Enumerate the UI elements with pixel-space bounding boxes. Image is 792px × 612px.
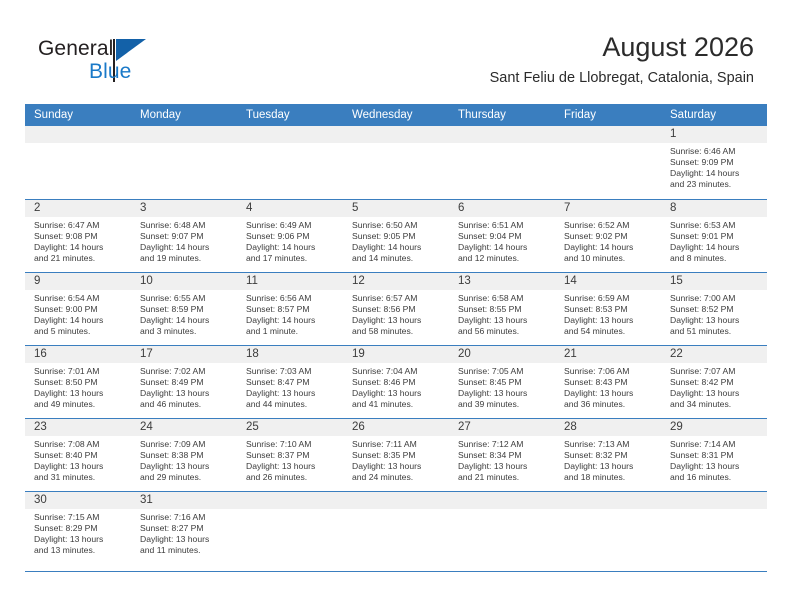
day-number: 9 [25, 273, 131, 290]
sunrise-text: Sunrise: 7:04 AM [352, 366, 443, 377]
sunset-text: Sunset: 8:43 PM [564, 377, 655, 388]
calendar-day-cell[interactable]: 9Sunrise: 6:54 AMSunset: 9:00 PMDaylight… [25, 272, 131, 345]
day-details: Sunrise: 7:10 AMSunset: 8:37 PMDaylight:… [237, 436, 343, 483]
daylight-text-line2: and 18 minutes. [564, 472, 655, 483]
sunset-text: Sunset: 8:47 PM [246, 377, 337, 388]
calendar-body: 1Sunrise: 6:46 AMSunset: 9:09 PMDaylight… [25, 126, 767, 571]
sunrise-text: Sunrise: 7:00 AM [670, 293, 761, 304]
sunset-text: Sunset: 9:08 PM [34, 231, 125, 242]
calendar-day-cell[interactable]: 16Sunrise: 7:01 AMSunset: 8:50 PMDayligh… [25, 345, 131, 418]
sunset-text: Sunset: 9:07 PM [140, 231, 231, 242]
calendar-cell-empty [237, 491, 343, 571]
day-details: Sunrise: 7:01 AMSunset: 8:50 PMDaylight:… [25, 363, 131, 410]
weekday-header-tuesday: Tuesday [237, 104, 343, 126]
day-number-band [131, 126, 237, 143]
sunrise-text: Sunrise: 7:16 AM [140, 512, 231, 523]
daylight-text-line1: Daylight: 13 hours [140, 388, 231, 399]
calendar-day-cell[interactable]: 5Sunrise: 6:50 AMSunset: 9:05 PMDaylight… [343, 199, 449, 272]
daylight-text-line2: and 3 minutes. [140, 326, 231, 337]
day-number: 23 [25, 419, 131, 436]
day-number-band [555, 492, 661, 509]
day-number: 14 [555, 273, 661, 290]
daylight-text-line2: and 8 minutes. [670, 253, 761, 264]
calendar-cell-empty [555, 491, 661, 571]
sunset-text: Sunset: 9:02 PM [564, 231, 655, 242]
daylight-text-line1: Daylight: 13 hours [34, 388, 125, 399]
daylight-text-line1: Daylight: 13 hours [140, 534, 231, 545]
sunset-text: Sunset: 8:55 PM [458, 304, 549, 315]
sunrise-sunset-calendar-table: SundayMondayTuesdayWednesdayThursdayFrid… [25, 104, 767, 572]
sunset-text: Sunset: 8:53 PM [564, 304, 655, 315]
day-number: 5 [343, 200, 449, 217]
daylight-text-line2: and 17 minutes. [246, 253, 337, 264]
day-details: Sunrise: 7:13 AMSunset: 8:32 PMDaylight:… [555, 436, 661, 483]
sunrise-text: Sunrise: 7:14 AM [670, 439, 761, 450]
calendar-day-cell[interactable]: 21Sunrise: 7:06 AMSunset: 8:43 PMDayligh… [555, 345, 661, 418]
day-details: Sunrise: 7:00 AMSunset: 8:52 PMDaylight:… [661, 290, 767, 337]
sunset-text: Sunset: 8:49 PM [140, 377, 231, 388]
calendar-cell-empty [237, 126, 343, 199]
daylight-text-line2: and 44 minutes. [246, 399, 337, 410]
daylight-text-line2: and 19 minutes. [140, 253, 231, 264]
general-blue-logo[interactable]: General Blue [38, 38, 218, 90]
calendar-day-cell[interactable]: 22Sunrise: 7:07 AMSunset: 8:42 PMDayligh… [661, 345, 767, 418]
sunrise-text: Sunrise: 6:48 AM [140, 220, 231, 231]
daylight-text-line1: Daylight: 13 hours [670, 461, 761, 472]
day-details: Sunrise: 6:49 AMSunset: 9:06 PMDaylight:… [237, 217, 343, 264]
daylight-text-line2: and 51 minutes. [670, 326, 761, 337]
day-details: Sunrise: 7:05 AMSunset: 8:45 PMDaylight:… [449, 363, 555, 410]
calendar-week-row: 2Sunrise: 6:47 AMSunset: 9:08 PMDaylight… [25, 199, 767, 272]
calendar-day-cell[interactable]: 13Sunrise: 6:58 AMSunset: 8:55 PMDayligh… [449, 272, 555, 345]
logo-text-general: General [38, 38, 113, 59]
daylight-text-line1: Daylight: 13 hours [246, 461, 337, 472]
calendar-cell-empty [343, 126, 449, 199]
sunrise-text: Sunrise: 6:59 AM [564, 293, 655, 304]
day-number: 8 [661, 200, 767, 217]
daylight-text-line2: and 39 minutes. [458, 399, 549, 410]
weekday-header-friday: Friday [555, 104, 661, 126]
sunrise-text: Sunrise: 6:55 AM [140, 293, 231, 304]
sunrise-text: Sunrise: 6:50 AM [352, 220, 443, 231]
calendar-day-cell[interactable]: 11Sunrise: 6:56 AMSunset: 8:57 PMDayligh… [237, 272, 343, 345]
calendar-day-cell[interactable]: 14Sunrise: 6:59 AMSunset: 8:53 PMDayligh… [555, 272, 661, 345]
calendar-day-cell[interactable]: 12Sunrise: 6:57 AMSunset: 8:56 PMDayligh… [343, 272, 449, 345]
day-number: 22 [661, 346, 767, 363]
calendar-day-cell[interactable]: 27Sunrise: 7:12 AMSunset: 8:34 PMDayligh… [449, 418, 555, 491]
day-number: 16 [25, 346, 131, 363]
calendar-day-cell[interactable]: 25Sunrise: 7:10 AMSunset: 8:37 PMDayligh… [237, 418, 343, 491]
calendar-day-cell[interactable]: 26Sunrise: 7:11 AMSunset: 8:35 PMDayligh… [343, 418, 449, 491]
daylight-text-line2: and 11 minutes. [140, 545, 231, 556]
day-number-band [449, 492, 555, 509]
calendar-cell-empty [131, 126, 237, 199]
day-details: Sunrise: 6:58 AMSunset: 8:55 PMDaylight:… [449, 290, 555, 337]
daylight-text-line2: and 34 minutes. [670, 399, 761, 410]
daylight-text-line1: Daylight: 13 hours [458, 388, 549, 399]
day-number: 13 [449, 273, 555, 290]
day-number: 28 [555, 419, 661, 436]
daylight-text-line2: and 23 minutes. [670, 179, 761, 190]
sunrise-text: Sunrise: 7:01 AM [34, 366, 125, 377]
sunset-text: Sunset: 8:37 PM [246, 450, 337, 461]
calendar-day-cell[interactable]: 4Sunrise: 6:49 AMSunset: 9:06 PMDaylight… [237, 199, 343, 272]
calendar-day-cell[interactable]: 18Sunrise: 7:03 AMSunset: 8:47 PMDayligh… [237, 345, 343, 418]
sunrise-text: Sunrise: 7:05 AM [458, 366, 549, 377]
day-details: Sunrise: 6:46 AMSunset: 9:09 PMDaylight:… [661, 143, 767, 190]
sunrise-text: Sunrise: 6:56 AM [246, 293, 337, 304]
day-number: 4 [237, 200, 343, 217]
day-number: 11 [237, 273, 343, 290]
daylight-text-line1: Daylight: 13 hours [34, 461, 125, 472]
day-details: Sunrise: 7:06 AMSunset: 8:43 PMDaylight:… [555, 363, 661, 410]
calendar-week-row: 30Sunrise: 7:15 AMSunset: 8:29 PMDayligh… [25, 491, 767, 571]
day-number: 20 [449, 346, 555, 363]
day-number-band [25, 126, 131, 143]
day-number: 27 [449, 419, 555, 436]
day-number: 31 [131, 492, 237, 509]
daylight-text-line1: Daylight: 13 hours [458, 461, 549, 472]
calendar-week-row: 9Sunrise: 6:54 AMSunset: 9:00 PMDaylight… [25, 272, 767, 345]
calendar-day-cell[interactable]: 31Sunrise: 7:16 AMSunset: 8:27 PMDayligh… [131, 491, 237, 571]
page-header: General Blue August 2026 Sant Feliu de L… [0, 0, 792, 104]
daylight-text-line1: Daylight: 13 hours [246, 388, 337, 399]
sunrise-text: Sunrise: 7:08 AM [34, 439, 125, 450]
sunrise-text: Sunrise: 6:51 AM [458, 220, 549, 231]
logo-triangle-icon [116, 39, 146, 61]
sunrise-text: Sunrise: 7:10 AM [246, 439, 337, 450]
daylight-text-line2: and 46 minutes. [140, 399, 231, 410]
daylight-text-line2: and 36 minutes. [564, 399, 655, 410]
daylight-text-line1: Daylight: 14 hours [670, 242, 761, 253]
sunset-text: Sunset: 8:34 PM [458, 450, 549, 461]
day-details: Sunrise: 6:52 AMSunset: 9:02 PMDaylight:… [555, 217, 661, 264]
sunset-text: Sunset: 9:04 PM [458, 231, 549, 242]
calendar-cell-empty [343, 491, 449, 571]
weekday-header-sunday: Sunday [25, 104, 131, 126]
title-block: August 2026 Sant Feliu de Llobregat, Cat… [490, 32, 754, 87]
day-number: 25 [237, 419, 343, 436]
calendar-day-cell[interactable]: 7Sunrise: 6:52 AMSunset: 9:02 PMDaylight… [555, 199, 661, 272]
day-details: Sunrise: 6:50 AMSunset: 9:05 PMDaylight:… [343, 217, 449, 264]
day-number: 10 [131, 273, 237, 290]
calendar-header-row: SundayMondayTuesdayWednesdayThursdayFrid… [25, 104, 767, 126]
daylight-text-line1: Daylight: 14 hours [246, 315, 337, 326]
daylight-text-line1: Daylight: 13 hours [140, 461, 231, 472]
sunset-text: Sunset: 8:59 PM [140, 304, 231, 315]
sunset-text: Sunset: 9:09 PM [670, 157, 761, 168]
daylight-text-line2: and 54 minutes. [564, 326, 655, 337]
day-number: 6 [449, 200, 555, 217]
calendar-day-cell[interactable]: 30Sunrise: 7:15 AMSunset: 8:29 PMDayligh… [25, 491, 131, 571]
weekday-header-thursday: Thursday [449, 104, 555, 126]
sunset-text: Sunset: 9:06 PM [246, 231, 337, 242]
day-number: 29 [661, 419, 767, 436]
day-details: Sunrise: 7:09 AMSunset: 8:38 PMDaylight:… [131, 436, 237, 483]
day-details: Sunrise: 7:11 AMSunset: 8:35 PMDaylight:… [343, 436, 449, 483]
calendar-day-cell[interactable]: 20Sunrise: 7:05 AMSunset: 8:45 PMDayligh… [449, 345, 555, 418]
sunset-text: Sunset: 8:42 PM [670, 377, 761, 388]
daylight-text-line1: Daylight: 14 hours [34, 315, 125, 326]
day-number-band [555, 126, 661, 143]
day-details: Sunrise: 6:51 AMSunset: 9:04 PMDaylight:… [449, 217, 555, 264]
daylight-text-line1: Daylight: 13 hours [352, 388, 443, 399]
daylight-text-line2: and 14 minutes. [352, 253, 443, 264]
sunrise-text: Sunrise: 7:02 AM [140, 366, 231, 377]
day-details: Sunrise: 7:02 AMSunset: 8:49 PMDaylight:… [131, 363, 237, 410]
calendar-cell-empty [661, 491, 767, 571]
day-details: Sunrise: 6:57 AMSunset: 8:56 PMDaylight:… [343, 290, 449, 337]
daylight-text-line1: Daylight: 13 hours [458, 315, 549, 326]
day-details: Sunrise: 7:03 AMSunset: 8:47 PMDaylight:… [237, 363, 343, 410]
daylight-text-line1: Daylight: 14 hours [140, 315, 231, 326]
page-title: August 2026 [490, 32, 754, 63]
sunset-text: Sunset: 8:35 PM [352, 450, 443, 461]
daylight-text-line2: and 21 minutes. [458, 472, 549, 483]
daylight-text-line2: and 24 minutes. [352, 472, 443, 483]
day-number: 17 [131, 346, 237, 363]
day-number: 19 [343, 346, 449, 363]
sunset-text: Sunset: 8:45 PM [458, 377, 549, 388]
daylight-text-line1: Daylight: 14 hours [458, 242, 549, 253]
sunrise-text: Sunrise: 6:53 AM [670, 220, 761, 231]
sunrise-text: Sunrise: 7:15 AM [34, 512, 125, 523]
sunrise-text: Sunrise: 6:58 AM [458, 293, 549, 304]
day-number-band [237, 492, 343, 509]
day-details: Sunrise: 7:07 AMSunset: 8:42 PMDaylight:… [661, 363, 767, 410]
sunset-text: Sunset: 8:40 PM [34, 450, 125, 461]
sunrise-text: Sunrise: 7:12 AM [458, 439, 549, 450]
day-details: Sunrise: 6:48 AMSunset: 9:07 PMDaylight:… [131, 217, 237, 264]
day-details: Sunrise: 6:59 AMSunset: 8:53 PMDaylight:… [555, 290, 661, 337]
day-number: 21 [555, 346, 661, 363]
calendar-cell-empty [449, 491, 555, 571]
day-number-band [449, 126, 555, 143]
calendar-cell-empty [449, 126, 555, 199]
sunset-text: Sunset: 8:31 PM [670, 450, 761, 461]
weekday-header-wednesday: Wednesday [343, 104, 449, 126]
daylight-text-line2: and 29 minutes. [140, 472, 231, 483]
daylight-text-line1: Daylight: 14 hours [352, 242, 443, 253]
daylight-text-line2: and 1 minute. [246, 326, 337, 337]
calendar-day-cell[interactable]: 2Sunrise: 6:47 AMSunset: 9:08 PMDaylight… [25, 199, 131, 272]
logo-text-blue: Blue [89, 61, 131, 82]
daylight-text-line2: and 49 minutes. [34, 399, 125, 410]
day-number: 26 [343, 419, 449, 436]
daylight-text-line1: Daylight: 13 hours [352, 315, 443, 326]
sunset-text: Sunset: 8:32 PM [564, 450, 655, 461]
weekday-header-monday: Monday [131, 104, 237, 126]
sunrise-text: Sunrise: 7:03 AM [246, 366, 337, 377]
day-details: Sunrise: 7:16 AMSunset: 8:27 PMDaylight:… [131, 509, 237, 556]
calendar-day-cell[interactable]: 3Sunrise: 6:48 AMSunset: 9:07 PMDaylight… [131, 199, 237, 272]
daylight-text-line1: Daylight: 14 hours [246, 242, 337, 253]
daylight-text-line1: Daylight: 14 hours [670, 168, 761, 179]
daylight-text-line2: and 41 minutes. [352, 399, 443, 410]
calendar-day-cell[interactable]: 15Sunrise: 7:00 AMSunset: 8:52 PMDayligh… [661, 272, 767, 345]
day-details: Sunrise: 7:15 AMSunset: 8:29 PMDaylight:… [25, 509, 131, 556]
day-details: Sunrise: 6:47 AMSunset: 9:08 PMDaylight:… [25, 217, 131, 264]
sunset-text: Sunset: 8:38 PM [140, 450, 231, 461]
calendar-day-cell[interactable]: 28Sunrise: 7:13 AMSunset: 8:32 PMDayligh… [555, 418, 661, 491]
day-details: Sunrise: 6:53 AMSunset: 9:01 PMDaylight:… [661, 217, 767, 264]
calendar-day-cell[interactable]: 6Sunrise: 6:51 AMSunset: 9:04 PMDaylight… [449, 199, 555, 272]
calendar-week-row: 1Sunrise: 6:46 AMSunset: 9:09 PMDaylight… [25, 126, 767, 199]
daylight-text-line1: Daylight: 13 hours [670, 315, 761, 326]
daylight-text-line1: Daylight: 13 hours [34, 534, 125, 545]
calendar-cell-empty [25, 126, 131, 199]
sunset-text: Sunset: 9:05 PM [352, 231, 443, 242]
day-number-band [343, 492, 449, 509]
daylight-text-line1: Daylight: 14 hours [140, 242, 231, 253]
day-number: 2 [25, 200, 131, 217]
calendar-page: General Blue August 2026 Sant Feliu de L… [0, 0, 792, 612]
day-number-band [661, 492, 767, 509]
daylight-text-line2: and 10 minutes. [564, 253, 655, 264]
sunset-text: Sunset: 8:57 PM [246, 304, 337, 315]
daylight-text-line2: and 16 minutes. [670, 472, 761, 483]
sunset-text: Sunset: 9:01 PM [670, 231, 761, 242]
day-number-band [343, 126, 449, 143]
day-details: Sunrise: 7:08 AMSunset: 8:40 PMDaylight:… [25, 436, 131, 483]
sunrise-text: Sunrise: 6:52 AM [564, 220, 655, 231]
calendar-week-row: 16Sunrise: 7:01 AMSunset: 8:50 PMDayligh… [25, 345, 767, 418]
calendar-day-cell[interactable]: 29Sunrise: 7:14 AMSunset: 8:31 PMDayligh… [661, 418, 767, 491]
weekday-header-saturday: Saturday [661, 104, 767, 126]
sunrise-text: Sunrise: 7:11 AM [352, 439, 443, 450]
sunset-text: Sunset: 8:50 PM [34, 377, 125, 388]
daylight-text-line2: and 26 minutes. [246, 472, 337, 483]
calendar-day-cell[interactable]: 19Sunrise: 7:04 AMSunset: 8:46 PMDayligh… [343, 345, 449, 418]
daylight-text-line1: Daylight: 13 hours [564, 315, 655, 326]
day-details: Sunrise: 6:55 AMSunset: 8:59 PMDaylight:… [131, 290, 237, 337]
calendar-day-cell[interactable]: 17Sunrise: 7:02 AMSunset: 8:49 PMDayligh… [131, 345, 237, 418]
daylight-text-line2: and 21 minutes. [34, 253, 125, 264]
sunset-text: Sunset: 8:56 PM [352, 304, 443, 315]
sunrise-text: Sunrise: 7:06 AM [564, 366, 655, 377]
daylight-text-line2: and 13 minutes. [34, 545, 125, 556]
day-number: 30 [25, 492, 131, 509]
sunrise-text: Sunrise: 6:49 AM [246, 220, 337, 231]
day-number-band [237, 126, 343, 143]
calendar-day-cell[interactable]: 24Sunrise: 7:09 AMSunset: 8:38 PMDayligh… [131, 418, 237, 491]
sunrise-text: Sunrise: 6:47 AM [34, 220, 125, 231]
daylight-text-line2: and 31 minutes. [34, 472, 125, 483]
sunrise-text: Sunrise: 7:13 AM [564, 439, 655, 450]
calendar-day-cell[interactable]: 10Sunrise: 6:55 AMSunset: 8:59 PMDayligh… [131, 272, 237, 345]
day-number: 18 [237, 346, 343, 363]
day-details: Sunrise: 7:04 AMSunset: 8:46 PMDaylight:… [343, 363, 449, 410]
daylight-text-line2: and 58 minutes. [352, 326, 443, 337]
daylight-text-line1: Daylight: 13 hours [670, 388, 761, 399]
day-details: Sunrise: 7:12 AMSunset: 8:34 PMDaylight:… [449, 436, 555, 483]
day-number: 7 [555, 200, 661, 217]
day-number: 15 [661, 273, 767, 290]
daylight-text-line2: and 56 minutes. [458, 326, 549, 337]
day-number: 24 [131, 419, 237, 436]
day-details: Sunrise: 6:54 AMSunset: 9:00 PMDaylight:… [25, 290, 131, 337]
calendar-day-cell[interactable]: 23Sunrise: 7:08 AMSunset: 8:40 PMDayligh… [25, 418, 131, 491]
daylight-text-line1: Daylight: 13 hours [352, 461, 443, 472]
sunrise-text: Sunrise: 7:09 AM [140, 439, 231, 450]
calendar-day-cell[interactable]: 1Sunrise: 6:46 AMSunset: 9:09 PMDaylight… [661, 126, 767, 199]
sunset-text: Sunset: 8:27 PM [140, 523, 231, 534]
calendar-week-row: 23Sunrise: 7:08 AMSunset: 8:40 PMDayligh… [25, 418, 767, 491]
sunrise-text: Sunrise: 6:46 AM [670, 146, 761, 157]
sunset-text: Sunset: 8:46 PM [352, 377, 443, 388]
sunrise-text: Sunrise: 6:54 AM [34, 293, 125, 304]
daylight-text-line1: Daylight: 13 hours [564, 388, 655, 399]
daylight-text-line2: and 5 minutes. [34, 326, 125, 337]
daylight-text-line2: and 12 minutes. [458, 253, 549, 264]
sunset-text: Sunset: 9:00 PM [34, 304, 125, 315]
sunrise-text: Sunrise: 7:07 AM [670, 366, 761, 377]
day-number: 3 [131, 200, 237, 217]
daylight-text-line1: Daylight: 14 hours [564, 242, 655, 253]
calendar-day-cell[interactable]: 8Sunrise: 6:53 AMSunset: 9:01 PMDaylight… [661, 199, 767, 272]
sunrise-text: Sunrise: 6:57 AM [352, 293, 443, 304]
page-subtitle-location: Sant Feliu de Llobregat, Catalonia, Spai… [490, 70, 754, 87]
day-number: 1 [661, 126, 767, 143]
daylight-text-line1: Daylight: 13 hours [564, 461, 655, 472]
day-number: 12 [343, 273, 449, 290]
sunset-text: Sunset: 8:29 PM [34, 523, 125, 534]
day-details: Sunrise: 7:14 AMSunset: 8:31 PMDaylight:… [661, 436, 767, 483]
day-details: Sunrise: 6:56 AMSunset: 8:57 PMDaylight:… [237, 290, 343, 337]
calendar-cell-empty [555, 126, 661, 199]
daylight-text-line1: Daylight: 14 hours [34, 242, 125, 253]
sunset-text: Sunset: 8:52 PM [670, 304, 761, 315]
